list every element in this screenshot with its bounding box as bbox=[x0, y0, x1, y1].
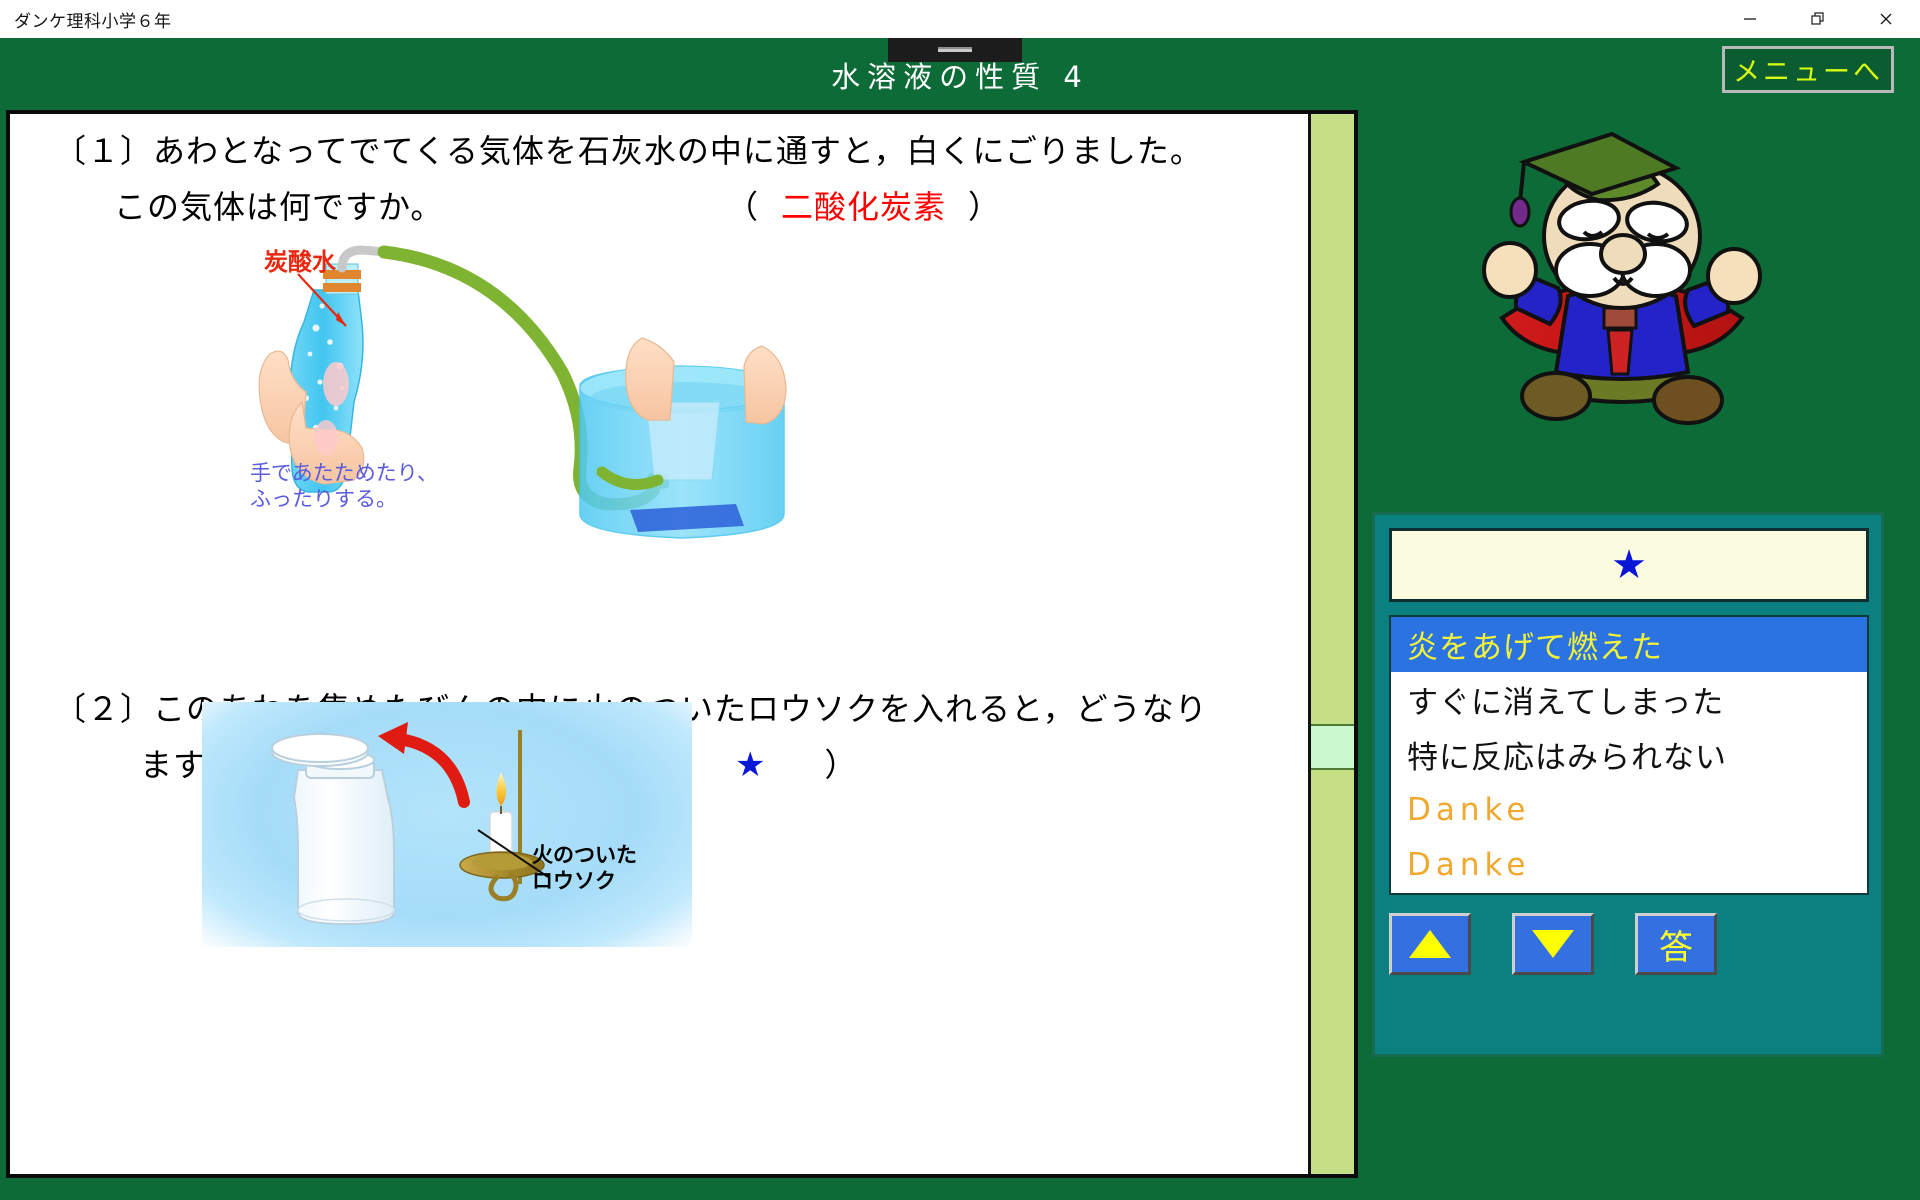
question1-answer: 二酸化炭素 bbox=[759, 188, 968, 226]
question1-line1: 〔１〕あわとなってでてくる気体を石灰水の中に通すと，白くにごりました。 bbox=[54, 126, 1203, 172]
choice-list[interactable]: 炎をあげて燃えた すぐに消えてしまった 特に反応はみられない Danke Dan… bbox=[1389, 615, 1869, 895]
choice-item-1[interactable]: すぐに消えてしまった bbox=[1391, 672, 1867, 727]
close-button[interactable] bbox=[1852, 0, 1920, 38]
star-icon: ★ bbox=[1611, 545, 1647, 585]
selected-answer-display: ★ bbox=[1389, 528, 1869, 602]
professor-character-icon bbox=[1472, 128, 1772, 458]
triangle-up-icon bbox=[1409, 930, 1451, 958]
answer-panel: ★ 炎をあげて燃えた すぐに消えてしまった 特に反応はみられない Danke D… bbox=[1372, 512, 1884, 1057]
window-title: ダンケ理科小学６年 bbox=[14, 7, 172, 32]
figure1-label-carbonated-water: 炭酸水 bbox=[264, 242, 336, 277]
document-page: 〔１〕あわとなってでてくる気体を石灰水の中に通すと，白くにごりました。 この気体… bbox=[10, 114, 1308, 1174]
choice-item-0[interactable]: 炎をあげて燃えた bbox=[1391, 617, 1867, 672]
menu-button[interactable]: メニューへ bbox=[1722, 46, 1894, 93]
app-header: 水溶液の性質 4 bbox=[0, 38, 1920, 100]
paren-close: ） bbox=[968, 188, 1001, 226]
answer-button-label: 答 bbox=[1659, 920, 1693, 969]
document-scrollbar[interactable] bbox=[1308, 114, 1354, 1174]
document-pane: 〔１〕あわとなってでてくる気体を石灰水の中に通すと，白くにごりました。 この気体… bbox=[6, 110, 1358, 1178]
paren-open: （ bbox=[726, 188, 759, 226]
window-titlebar: ダンケ理科小学６年 bbox=[0, 0, 1920, 39]
choice-item-3[interactable]: Danke bbox=[1391, 782, 1867, 837]
figure2-label-lit-candle: 火のついた ロウソク bbox=[532, 842, 637, 894]
question1-line2: この気体は何ですか。 bbox=[114, 182, 443, 228]
question2-answer-star: ★ bbox=[677, 745, 824, 785]
triangle-down-icon bbox=[1532, 930, 1574, 958]
minimize-button[interactable] bbox=[1716, 0, 1784, 38]
answer-button[interactable]: 答 bbox=[1635, 913, 1717, 975]
question1-answer-field: （二酸化炭素） bbox=[726, 182, 1001, 228]
page-title: 水溶液の性質 4 bbox=[0, 54, 1920, 96]
figure-carbonated-water: 炭酸水 手であたためたり、 ふったりする。 bbox=[250, 242, 890, 552]
figure-candle-in-bottle: 火のついた ロウソク bbox=[202, 702, 692, 947]
restore-button[interactable] bbox=[1784, 0, 1852, 38]
scroll-up-button[interactable] bbox=[1389, 913, 1471, 975]
choice-item-2[interactable]: 特に反応はみられない bbox=[1391, 727, 1867, 782]
paren-close: ） bbox=[825, 746, 858, 784]
window-controls bbox=[1716, 0, 1920, 38]
choice-item-4[interactable]: Danke bbox=[1391, 837, 1867, 892]
figure1-label-instruction: 手であたためたり、 ふったりする。 bbox=[250, 460, 438, 512]
scrollbar-thumb[interactable] bbox=[1311, 724, 1354, 770]
panel-buttons: 答 bbox=[1389, 913, 1717, 975]
scroll-down-button[interactable] bbox=[1512, 913, 1594, 975]
